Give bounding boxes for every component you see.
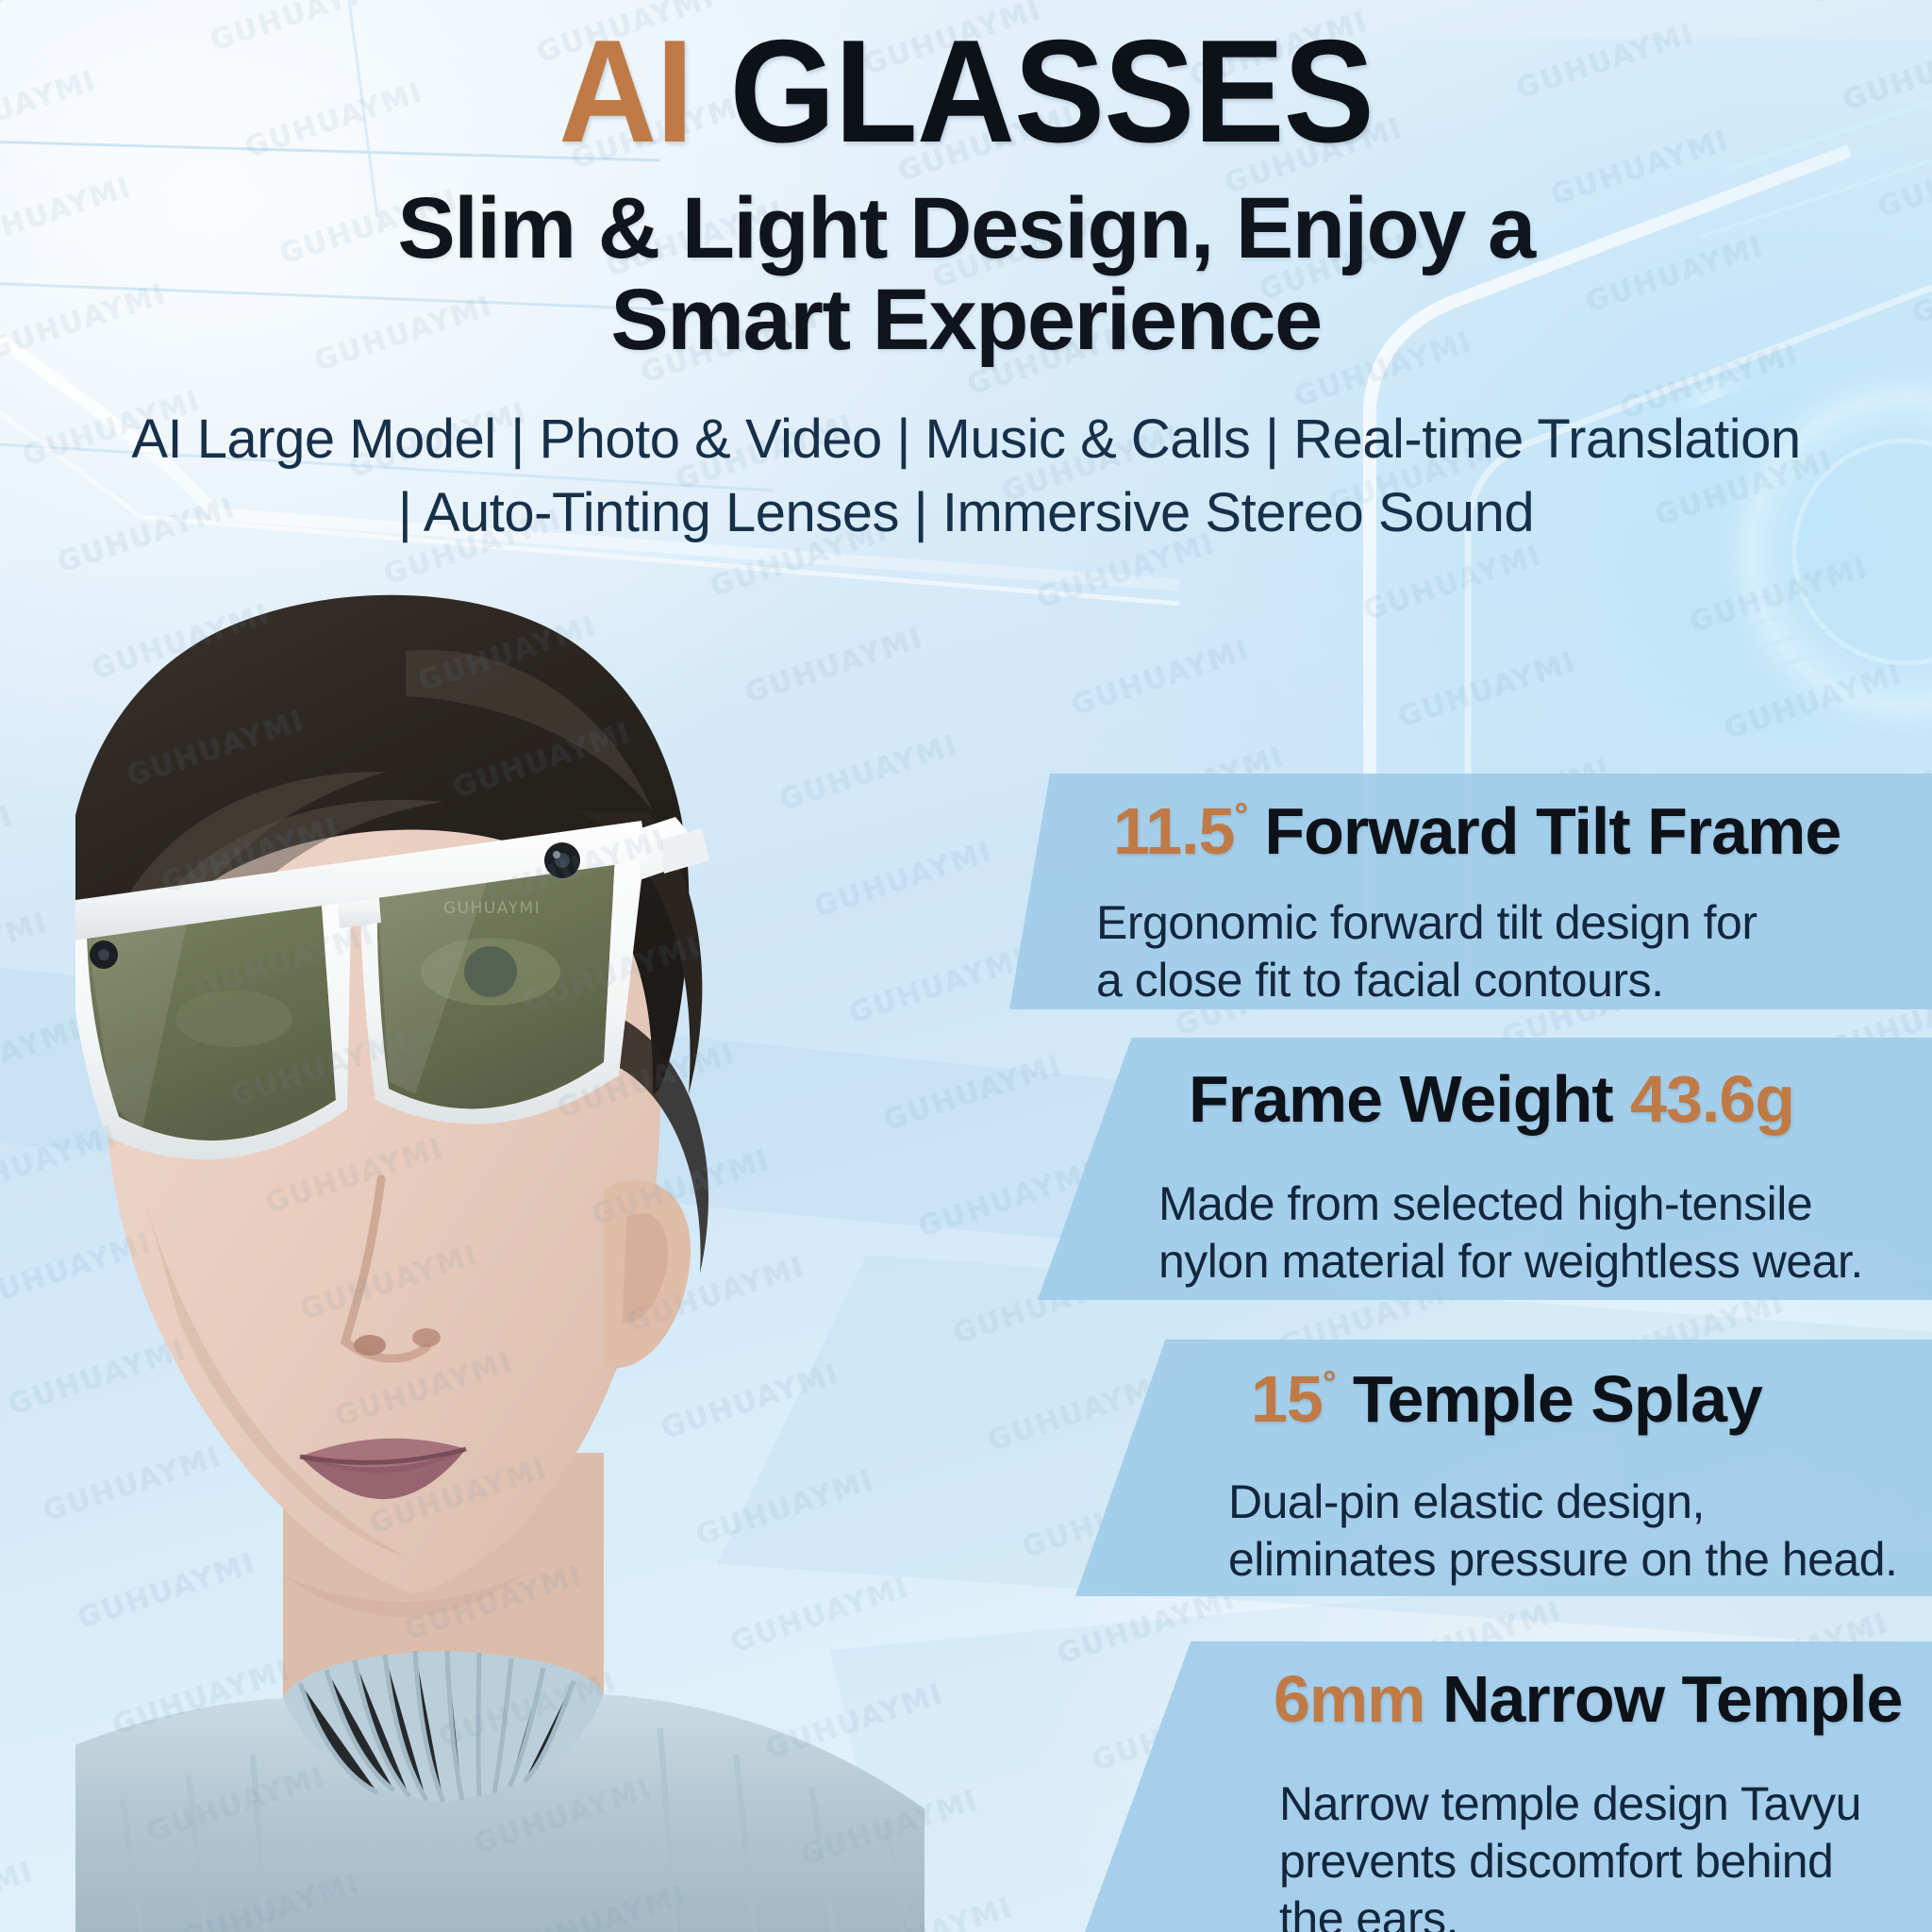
card-body: Frame Weight 43.6g Made from selected hi… <box>1038 1038 1932 1300</box>
degree-icon: ° <box>1234 795 1247 834</box>
feature-cards: 11.5° Forward Tilt Frame Ergonomic forwa… <box>0 0 1932 1932</box>
card-desc-line-1: Made from selected high-tensile <box>1158 1177 1812 1230</box>
card-desc-line-2: prevents discomfort behind <box>1279 1835 1833 1888</box>
card-value: 43.6g <box>1630 1062 1794 1136</box>
card-body: 15° Temple Splay Dual-pin elastic design… <box>1075 1340 1932 1596</box>
card-value: 6mm <box>1274 1662 1424 1736</box>
card-description: Made from selected high-tensile nylon ma… <box>1158 1175 1863 1291</box>
card-body: 6mm Narrow Temple Narrow temple design T… <box>1085 1641 1932 1932</box>
card-label: Narrow Temple <box>1442 1662 1903 1736</box>
card-heading: 15° Temple Splay <box>1251 1366 1762 1432</box>
card-label: Frame Weight <box>1189 1062 1613 1136</box>
card-description: Narrow temple design Tavyu prevents disc… <box>1279 1775 1861 1932</box>
card-body: 11.5° Forward Tilt Frame Ergonomic forwa… <box>1009 774 1932 1009</box>
card-description: Ergonomic forward tilt design for a clos… <box>1096 894 1757 1009</box>
feature-card-forward-tilt: 11.5° Forward Tilt Frame Ergonomic forwa… <box>1009 774 1932 1009</box>
card-desc-line-2: eliminates pressure on the head. <box>1228 1533 1897 1586</box>
card-desc-line-2: nylon material for weightless wear. <box>1158 1235 1863 1288</box>
card-desc-line-3: the ears. <box>1279 1892 1458 1932</box>
card-description: Dual-pin elastic design, eliminates pres… <box>1228 1474 1897 1589</box>
card-desc-line-1: Ergonomic forward tilt design for <box>1096 896 1757 949</box>
card-value: 15 <box>1251 1362 1323 1436</box>
card-heading: 11.5° Forward Tilt Frame <box>1113 798 1840 864</box>
infographic-canvas: GUHUAYMI <box>0 0 1932 1932</box>
card-heading: 6mm Narrow Temple <box>1274 1666 1902 1732</box>
card-label: Forward Tilt Frame <box>1264 794 1840 868</box>
card-heading: Frame Weight 43.6g <box>1189 1066 1794 1132</box>
feature-card-frame-weight: Frame Weight 43.6g Made from selected hi… <box>1038 1038 1932 1300</box>
card-desc-line-1: Narrow temple design Tavyu <box>1279 1777 1861 1830</box>
feature-card-narrow-temple: 6mm Narrow Temple Narrow temple design T… <box>1085 1641 1932 1932</box>
card-desc-line-1: Dual-pin elastic design, <box>1228 1475 1705 1528</box>
card-label: Temple Splay <box>1353 1362 1762 1436</box>
degree-icon: ° <box>1323 1363 1336 1402</box>
card-value: 11.5 <box>1113 794 1234 868</box>
card-desc-line-2: a close fit to facial contours. <box>1096 954 1663 1007</box>
feature-card-temple-splay: 15° Temple Splay Dual-pin elastic design… <box>1075 1340 1932 1596</box>
